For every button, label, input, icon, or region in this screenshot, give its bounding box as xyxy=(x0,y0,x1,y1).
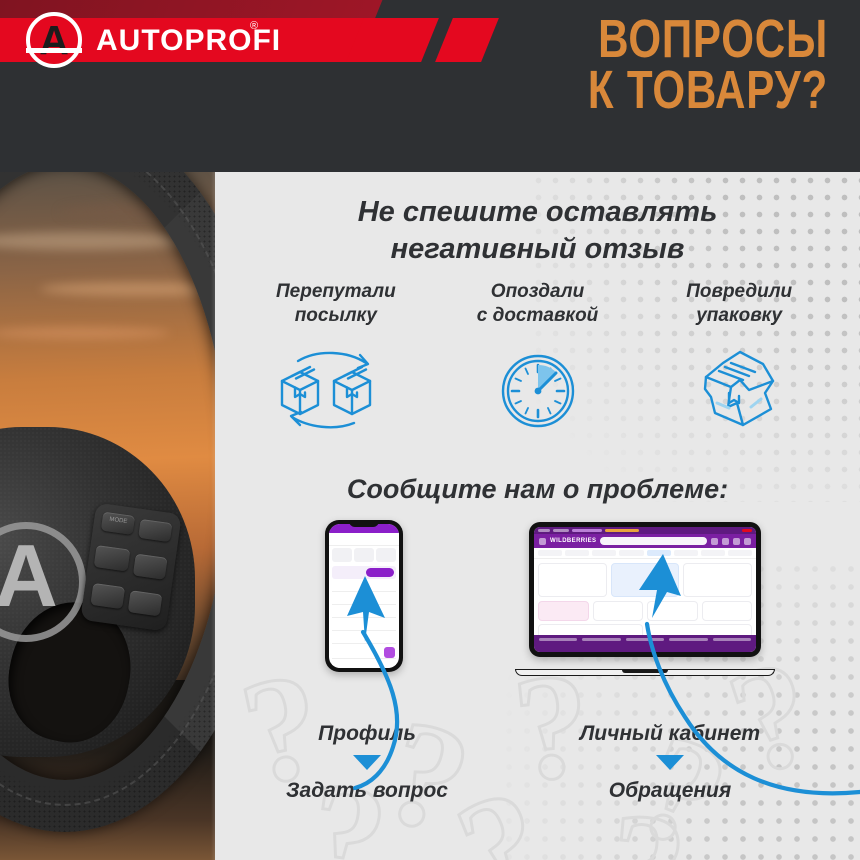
wheel-button-voice-icon xyxy=(128,590,163,616)
reasons-row: Перепутали посылку xyxy=(235,280,840,433)
laptop-screen[interactable]: WILDBERRIES xyxy=(534,527,756,652)
phone-menu-item[interactable] xyxy=(332,620,396,631)
cart-icon[interactable] xyxy=(744,538,751,545)
site-search-input[interactable] xyxy=(600,537,707,545)
product-photo: A MODE xyxy=(0,172,215,860)
phone-stats-row xyxy=(329,546,399,564)
laptop-base xyxy=(515,669,775,676)
steering-wheel-button-pad: MODE xyxy=(80,503,182,632)
page-title-line-2: К ТОВАРУ? xyxy=(485,65,828,116)
card-delivery[interactable] xyxy=(611,563,680,597)
phone-menu-item[interactable] xyxy=(332,661,396,668)
account-tabs xyxy=(534,548,756,559)
reason-item: Опоздали с доставкой xyxy=(437,280,639,433)
phone-menu-item-ask-question[interactable] xyxy=(332,646,396,659)
card-bonuses[interactable] xyxy=(593,601,644,621)
photo-edge xyxy=(211,172,215,860)
phone-menu-item[interactable] xyxy=(332,594,396,605)
geo-icon[interactable] xyxy=(711,538,718,545)
page-title: ВОПРОСЫ К ТОВАРУ? xyxy=(388,14,828,116)
site-brand: WILDBERRIES xyxy=(550,538,596,544)
wheel-button-volume-icon xyxy=(133,554,168,580)
phone-primary-button[interactable] xyxy=(366,568,394,577)
label-personal-cabinet: Личный кабинет xyxy=(545,722,795,746)
account-cards-row-1 xyxy=(534,559,756,601)
tab-reviews[interactable] xyxy=(701,550,725,556)
tab-cart[interactable] xyxy=(592,550,616,556)
registered-trademark-icon: ® xyxy=(250,20,258,32)
label-profile-group: Профиль Задать вопрос xyxy=(267,722,467,803)
label-profile: Профиль xyxy=(267,722,467,746)
tab-orders[interactable] xyxy=(538,550,562,556)
poster: A AUTOPROFI ® ВОПРОСЫ К ТОВАРУ? A MODE xyxy=(0,0,860,860)
device-mockups: WILDBERRIES xyxy=(215,524,860,704)
phone-screen[interactable] xyxy=(329,524,399,668)
logo-mark: A xyxy=(26,12,82,68)
reason-item: Повредили упаковку xyxy=(638,280,840,433)
hub-emblem: A xyxy=(0,522,86,642)
emblem-letter: A xyxy=(0,516,86,636)
reason-label-line-2: с доставкой xyxy=(437,304,639,328)
device-labels: Профиль Задать вопрос Личный кабинет Обр… xyxy=(215,720,860,830)
phone-menu-item[interactable] xyxy=(332,581,396,592)
logo-letter: A xyxy=(30,14,78,66)
label-ask-question: Задать вопрос xyxy=(267,779,467,803)
site-top-bar xyxy=(534,527,756,534)
damaged-box-icon xyxy=(638,347,840,433)
card-user-info[interactable] xyxy=(538,563,607,597)
site-header: WILDBERRIES xyxy=(534,534,756,548)
tab-profile[interactable] xyxy=(728,550,752,556)
phone-app-header xyxy=(329,533,399,546)
cabinet-icon[interactable] xyxy=(722,538,729,545)
top-bar: A AUTOPROFI ® ВОПРОСЫ К ТОВАРУ? xyxy=(0,0,860,172)
subtitle: Не спешите оставлять негативный отзыв xyxy=(215,194,860,268)
hamburger-menu-icon[interactable] xyxy=(539,538,546,545)
reason-label-line-1: Перепутали xyxy=(235,280,437,304)
smartphone-mockup[interactable] xyxy=(325,520,403,672)
card-payment-methods[interactable] xyxy=(538,601,589,621)
card-favorite-brands[interactable] xyxy=(702,601,753,621)
tab-notifications[interactable] xyxy=(674,550,698,556)
page-title-line-1: ВОПРОСЫ xyxy=(485,14,828,65)
clock-icon xyxy=(437,347,639,433)
subtitle-line-1: Не спешите оставлять xyxy=(215,194,860,231)
site-footer xyxy=(534,635,756,652)
wheel-button-mode-icon: MODE xyxy=(101,512,135,535)
card-topics[interactable] xyxy=(647,601,698,621)
phone-notch xyxy=(349,520,379,527)
card-wallet[interactable] xyxy=(683,563,752,597)
reason-label-line-1: Опоздали xyxy=(437,280,639,304)
phone-stat-card xyxy=(354,548,374,562)
phone-balance-row xyxy=(332,566,396,579)
laptop-body: WILDBERRIES xyxy=(529,522,761,657)
laptop-mockup[interactable]: WILDBERRIES xyxy=(515,522,775,682)
content-panel: ? ? ? ? ? ? ? ? Не спешите оставлять нег… xyxy=(215,172,860,860)
tab-favorites[interactable] xyxy=(565,550,589,556)
reason-label-line-1: Повредили xyxy=(638,280,840,304)
cta-heading: Сообщите нам о проблеме: xyxy=(215,474,860,505)
reason-label-line-2: посылку xyxy=(235,304,437,328)
phone-stat-card xyxy=(332,548,352,562)
reason-item: Перепутали посылку xyxy=(235,280,437,433)
label-appeals: Обращения xyxy=(545,779,795,803)
triangle-down-icon xyxy=(656,755,684,770)
account-cards-row-2 xyxy=(534,601,756,624)
wheel-button-menu-icon xyxy=(94,545,131,572)
subtitle-line-2: негативный отзыв xyxy=(215,231,860,268)
tab-wallet[interactable] xyxy=(619,550,643,556)
phone-menu-item[interactable] xyxy=(332,607,396,618)
favorites-icon[interactable] xyxy=(733,538,740,545)
phone-menu-item[interactable] xyxy=(332,633,396,644)
label-cabinet-group: Личный кабинет Обращения xyxy=(545,722,795,803)
tab-appeals[interactable] xyxy=(647,550,671,556)
two-boxes-swap-icon xyxy=(235,347,437,433)
wheel-button-dot-icon xyxy=(138,519,172,542)
triangle-down-icon xyxy=(353,755,381,770)
phone-stat-card xyxy=(376,548,396,562)
wheel-button-call-icon xyxy=(90,583,125,609)
reason-label-line-2: упаковку xyxy=(638,304,840,328)
